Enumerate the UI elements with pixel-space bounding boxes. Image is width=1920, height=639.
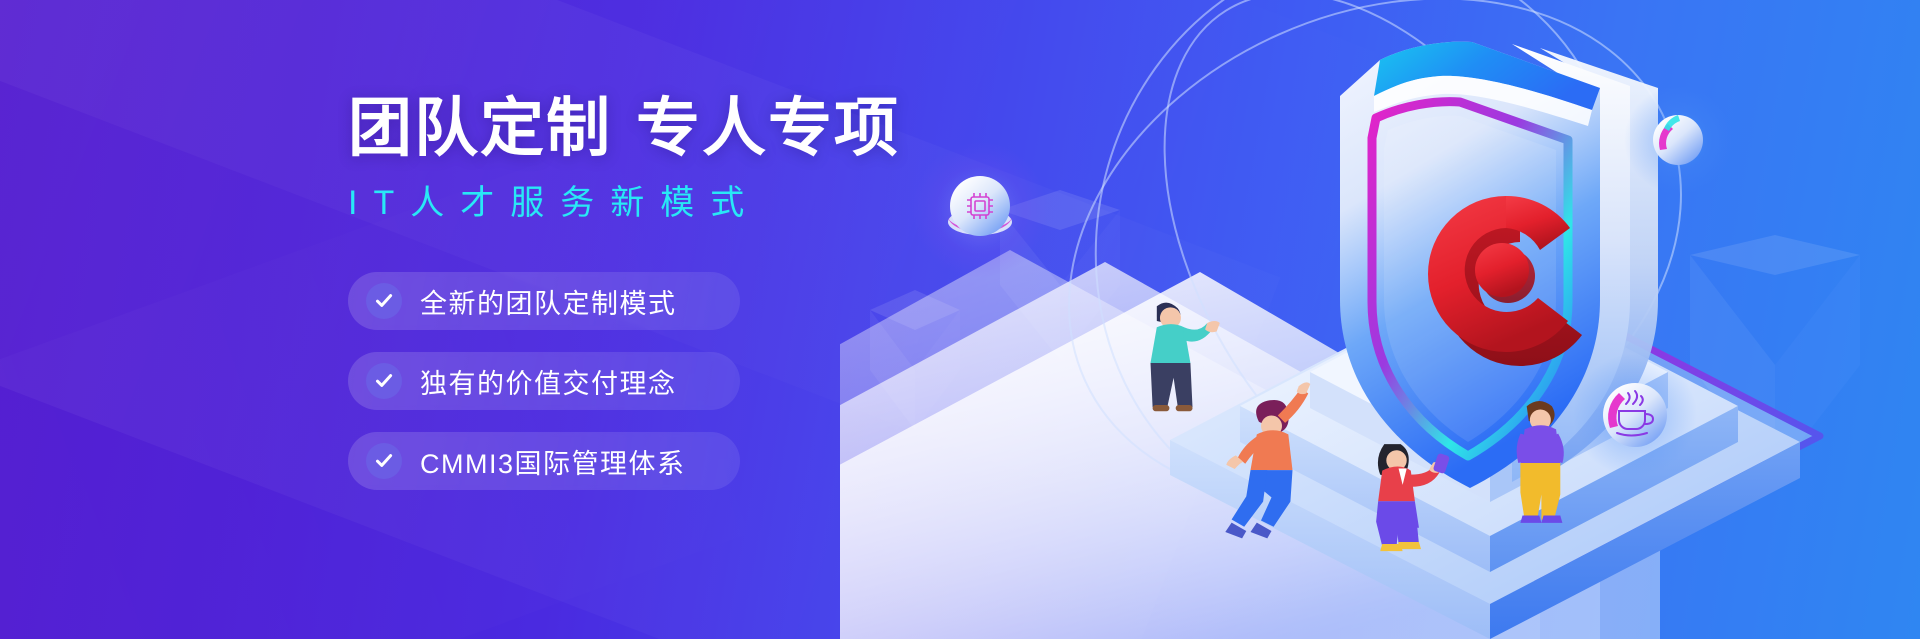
banner-content: 团队定制专人专项 IT人才服务新模式 全新的团队定制模式 独有的价值交付理念: [348, 96, 1108, 512]
banner-title: 团队定制专人专项: [348, 96, 1108, 160]
feature-pill-label: 全新的团队定制模式: [420, 282, 677, 321]
feature-pill-label: 独有的价值交付理念: [420, 362, 677, 401]
feature-pill[interactable]: 全新的团队定制模式: [348, 272, 740, 330]
feature-pill[interactable]: 独有的价值交付理念: [348, 352, 740, 410]
orb-java: [1573, 353, 1697, 477]
feature-pill[interactable]: CMMI3国际管理体系: [348, 432, 740, 490]
check-icon: [366, 443, 402, 479]
check-icon: [366, 363, 402, 399]
banner-title-part1: 团队定制: [348, 92, 612, 164]
banner-title-part2: 专人专项: [636, 92, 900, 164]
check-icon: [366, 283, 402, 319]
banner-subtitle: IT人才服务新模式: [348, 186, 1108, 220]
feature-pill-list: 全新的团队定制模式 独有的价值交付理念 CMMI3国际管理体系: [348, 272, 1108, 490]
promo-banner: 团队定制专人专项 IT人才服务新模式 全新的团队定制模式 独有的价值交付理念: [0, 0, 1920, 639]
orb-plain: [1624, 86, 1732, 194]
feature-pill-label: CMMI3国际管理体系: [420, 442, 686, 481]
